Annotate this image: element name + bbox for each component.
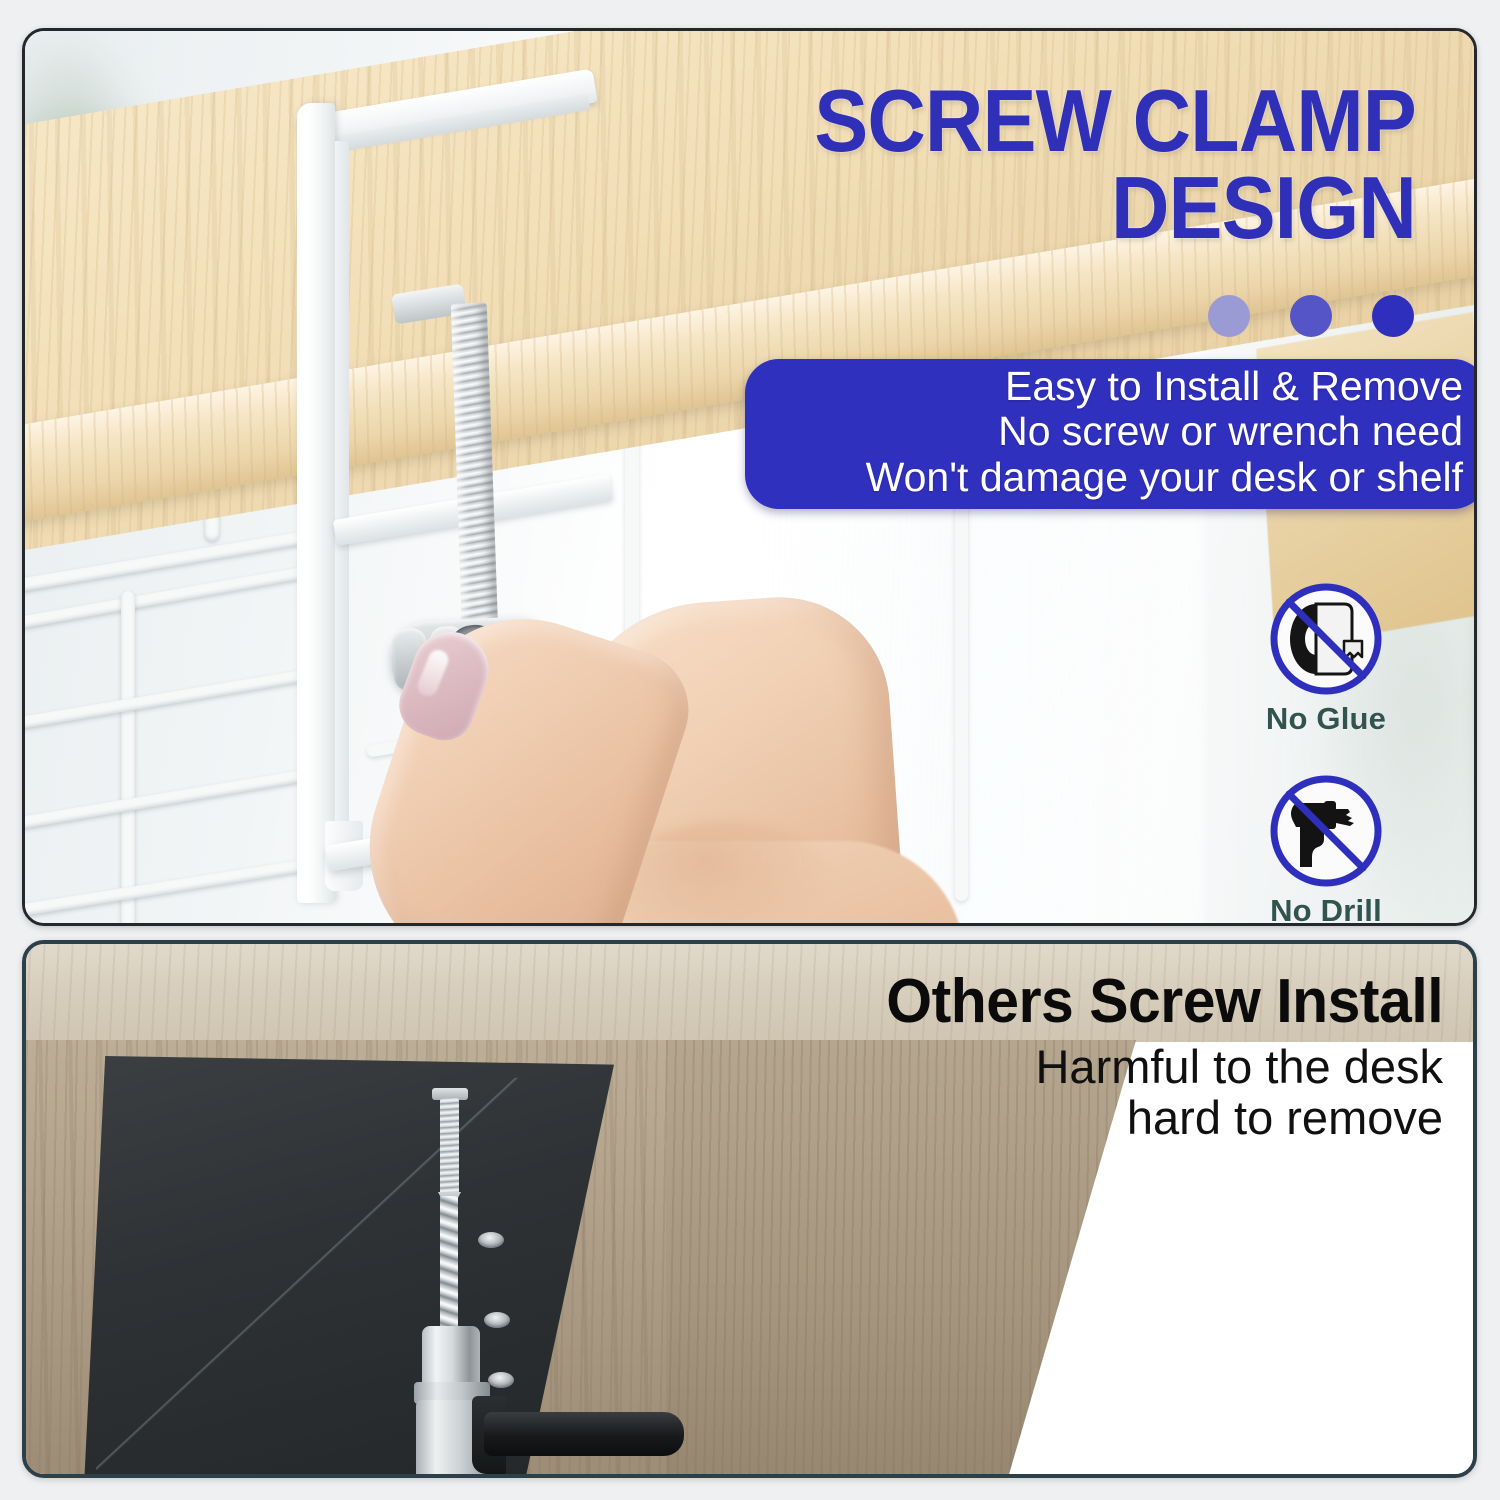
- callout-line-3: Won't damage your desk or shelf: [763, 455, 1463, 500]
- screw-thread: [440, 1098, 459, 1198]
- no-glue-icon: [1266, 579, 1386, 699]
- debris-2: [484, 1312, 510, 1328]
- feature-callout-box: Easy to Install & Remove No screw or wre…: [745, 359, 1477, 509]
- no-drill-icon: [1266, 771, 1386, 891]
- top-panel-screw-clamp-design: SCREW CLAMP DESIGN Easy to Install & Rem…: [22, 28, 1477, 926]
- callout-line-2: No screw or wrench need: [763, 409, 1463, 454]
- badge-no-glue-label: No Glue: [1240, 701, 1412, 737]
- badge-no-drill: No Drill: [1240, 771, 1412, 926]
- badge-no-glue: No Glue: [1240, 579, 1412, 737]
- dot-1-icon: [1208, 295, 1250, 337]
- badge-no-drill-label: No Drill: [1240, 893, 1412, 926]
- callout-line-1: Easy to Install & Remove: [763, 364, 1463, 409]
- progress-dots: [1208, 295, 1414, 337]
- drill-bit: [440, 1196, 458, 1336]
- clamp-post-inner-face: [335, 141, 349, 881]
- product-infographic-page: SCREW CLAMP DESIGN Easy to Install & Rem…: [0, 0, 1500, 1500]
- bottom-panel-subtext: Harmful to the desk hard to remove: [1035, 1042, 1443, 1144]
- drill-handle: [484, 1412, 684, 1456]
- wood-screw: [432, 1084, 466, 1200]
- page-title: SCREW CLAMP DESIGN: [814, 77, 1416, 251]
- debris-1: [478, 1232, 504, 1248]
- dot-3-icon: [1372, 295, 1414, 337]
- hand-turning-knob: [365, 591, 1065, 926]
- bottom-panel-title: Others Screw Install: [886, 966, 1443, 1037]
- bottom-panel-others-screw-install: Others Screw Install Harmful to the desk…: [22, 940, 1477, 1478]
- debris-3: [488, 1372, 514, 1388]
- dot-2-icon: [1290, 295, 1332, 337]
- clamp-vertical-post: [297, 103, 335, 903]
